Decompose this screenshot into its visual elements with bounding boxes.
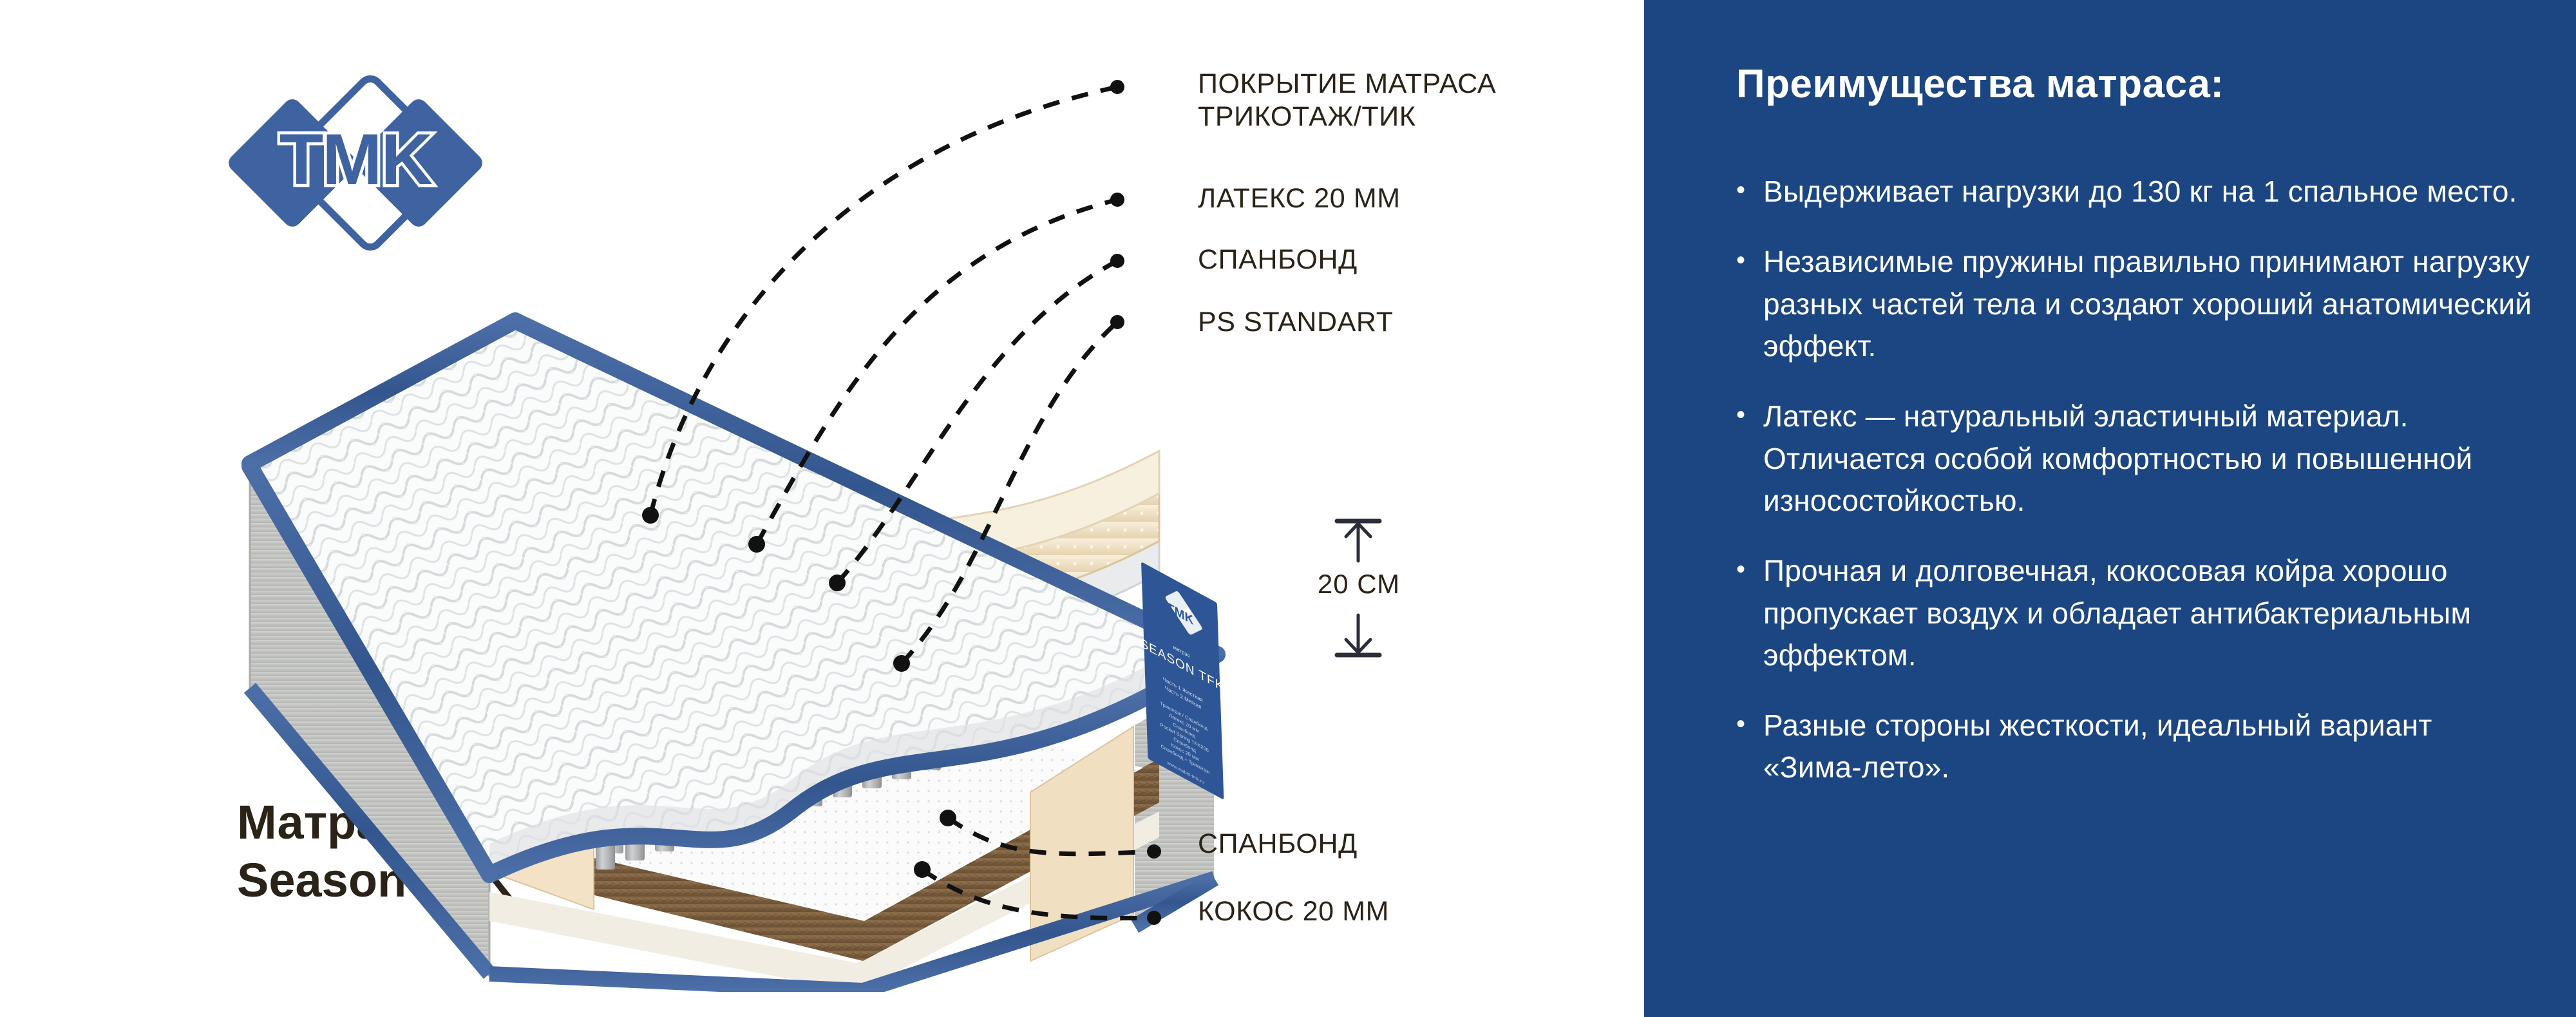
tmk-logo: TMK: [227, 62, 484, 261]
benefit-text: Латекс — натуральный эластичный материал…: [1763, 395, 2535, 522]
benefit-text: Разные стороны жесткости, идеальный вари…: [1763, 705, 2535, 789]
dimension-value: 20 СМ: [1282, 569, 1436, 600]
svg-text:TMK: TMK: [279, 119, 433, 200]
tmk-logo-icon: TMK: [227, 62, 484, 261]
callout-label-latex: ЛАТЕКС 20 ММ: [1198, 182, 1401, 215]
benefit-item: •Независимые пружины правильно принимают…: [1736, 241, 2535, 367]
benefit-item: •Латекс — натуральный эластичный материа…: [1736, 395, 2535, 522]
benefits-list: •Выдерживает нагрузки до 130 кг на 1 спа…: [1736, 171, 2535, 817]
callout-label-cover: ПОКРЫТИЕ МАТРАСА ТРИКОТАЖ/ТИК: [1198, 68, 1496, 133]
mattress-cutaway-illustration: TMK матрас SEASON TFK Часть 1 Жесткая Ча…: [213, 271, 1307, 992]
callout-label-coir: КОКОС 20 ММ: [1198, 895, 1389, 928]
infographic-canvas: TMK Матрас Season TFK: [0, 0, 2576, 1017]
height-dimension-indicator: 20 СМ: [1282, 499, 1436, 676]
benefit-text: Выдерживает нагрузки до 130 кг на 1 спал…: [1763, 171, 2535, 213]
bullet-dot-icon: •: [1736, 705, 1763, 789]
bullet-dot-icon: •: [1736, 171, 1763, 213]
callout-label-spunbond-1: СПАНБОНД: [1198, 243, 1358, 276]
benefit-item: •Прочная и долговечная, кокосовая койра …: [1736, 550, 2535, 676]
callout-label-spunbond-2: СПАНБОНД: [1198, 828, 1358, 860]
bullet-dot-icon: •: [1736, 550, 1763, 676]
benefit-text: Независимые пружины правильно принимают …: [1763, 241, 2535, 367]
callout-label-ps: PS STANDART: [1198, 306, 1394, 339]
benefits-panel-title: Преимущества матраса:: [1736, 61, 2541, 107]
bullet-dot-icon: •: [1736, 241, 1763, 367]
benefit-text: Прочная и долговечная, кокосовая койра х…: [1763, 550, 2535, 676]
benefit-item: •Выдерживает нагрузки до 130 кг на 1 спа…: [1736, 171, 2535, 213]
bullet-dot-icon: •: [1736, 395, 1763, 522]
benefit-item: •Разные стороны жесткости, идеальный вар…: [1736, 705, 2535, 789]
benefits-panel: Преимущества матраса: •Выдерживает нагру…: [1644, 0, 2576, 1017]
